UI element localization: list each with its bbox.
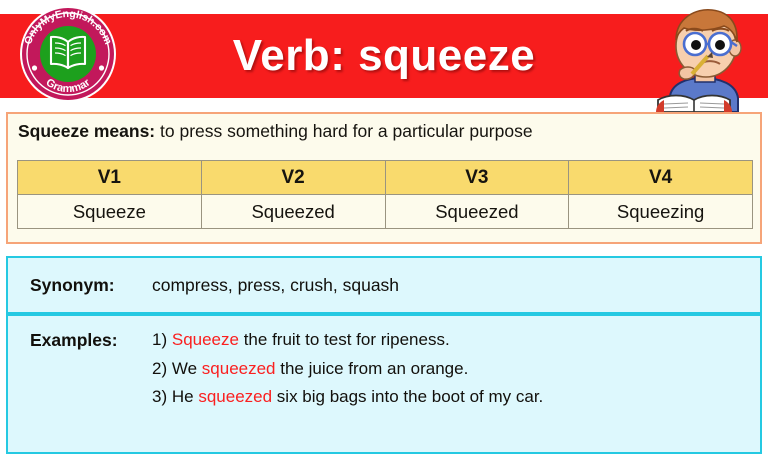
examples-section: Examples: 1) Squeeze the fruit to test f… bbox=[6, 314, 762, 454]
synonym-label: Synonym: bbox=[30, 275, 152, 296]
column-header-v4: V4 bbox=[569, 161, 753, 195]
open-book-icon bbox=[51, 37, 85, 68]
header-banner-area: Verb: squeeze OnlyMyEnglish.com Grammar bbox=[0, 0, 768, 112]
example-after: six big bags into the boot of my car. bbox=[272, 387, 543, 406]
example-after: the fruit to test for ripeness. bbox=[239, 330, 450, 349]
examples-list: 1) Squeeze the fruit to test for ripenes… bbox=[152, 330, 543, 407]
verb-form-v4: Squeezing bbox=[569, 195, 753, 229]
example-before: We bbox=[172, 359, 202, 378]
example-before: He bbox=[172, 387, 198, 406]
verb-form-v1: Squeeze bbox=[18, 195, 202, 229]
table-header-row: V1 V2 V3 V4 bbox=[18, 161, 753, 195]
column-header-v2: V2 bbox=[201, 161, 385, 195]
column-header-v3: V3 bbox=[385, 161, 569, 195]
list-item: 1) Squeeze the fruit to test for ripenes… bbox=[152, 330, 543, 350]
thinking-student-icon bbox=[640, 0, 762, 112]
list-item: 2) We squeezed the juice from an orange. bbox=[152, 359, 543, 379]
table-row: Squeeze Squeezed Squeezed Squeezing bbox=[18, 195, 753, 229]
example-highlight: Squeeze bbox=[172, 330, 239, 349]
column-header-v1: V1 bbox=[18, 161, 202, 195]
example-number: 2) bbox=[152, 359, 167, 378]
definition-line: Squeeze means: to press something hard f… bbox=[8, 114, 760, 147]
definition-label: Squeeze means: bbox=[18, 121, 155, 141]
site-logo[interactable]: OnlyMyEnglish.com Grammar bbox=[18, 4, 118, 104]
verb-form-v3: Squeezed bbox=[385, 195, 569, 229]
example-number: 3) bbox=[152, 387, 167, 406]
synonym-text: compress, press, crush, squash bbox=[152, 275, 399, 296]
verb-form-v2: Squeezed bbox=[201, 195, 385, 229]
examples-label: Examples: bbox=[30, 330, 152, 351]
synonym-section: Synonym: compress, press, crush, squash bbox=[6, 256, 762, 314]
example-number: 1) bbox=[152, 330, 167, 349]
verb-forms-table: V1 V2 V3 V4 Squeeze Squeezed Squeezed Sq… bbox=[17, 160, 753, 229]
definition-text: to press something hard for a particular… bbox=[160, 121, 533, 141]
list-item: 3) He squeezed six big bags into the boo… bbox=[152, 387, 543, 407]
example-highlight: squeezed bbox=[198, 387, 272, 406]
definition-panel: Squeeze means: to press something hard f… bbox=[6, 112, 762, 244]
example-highlight: squeezed bbox=[202, 359, 276, 378]
example-after: the juice from an orange. bbox=[276, 359, 469, 378]
